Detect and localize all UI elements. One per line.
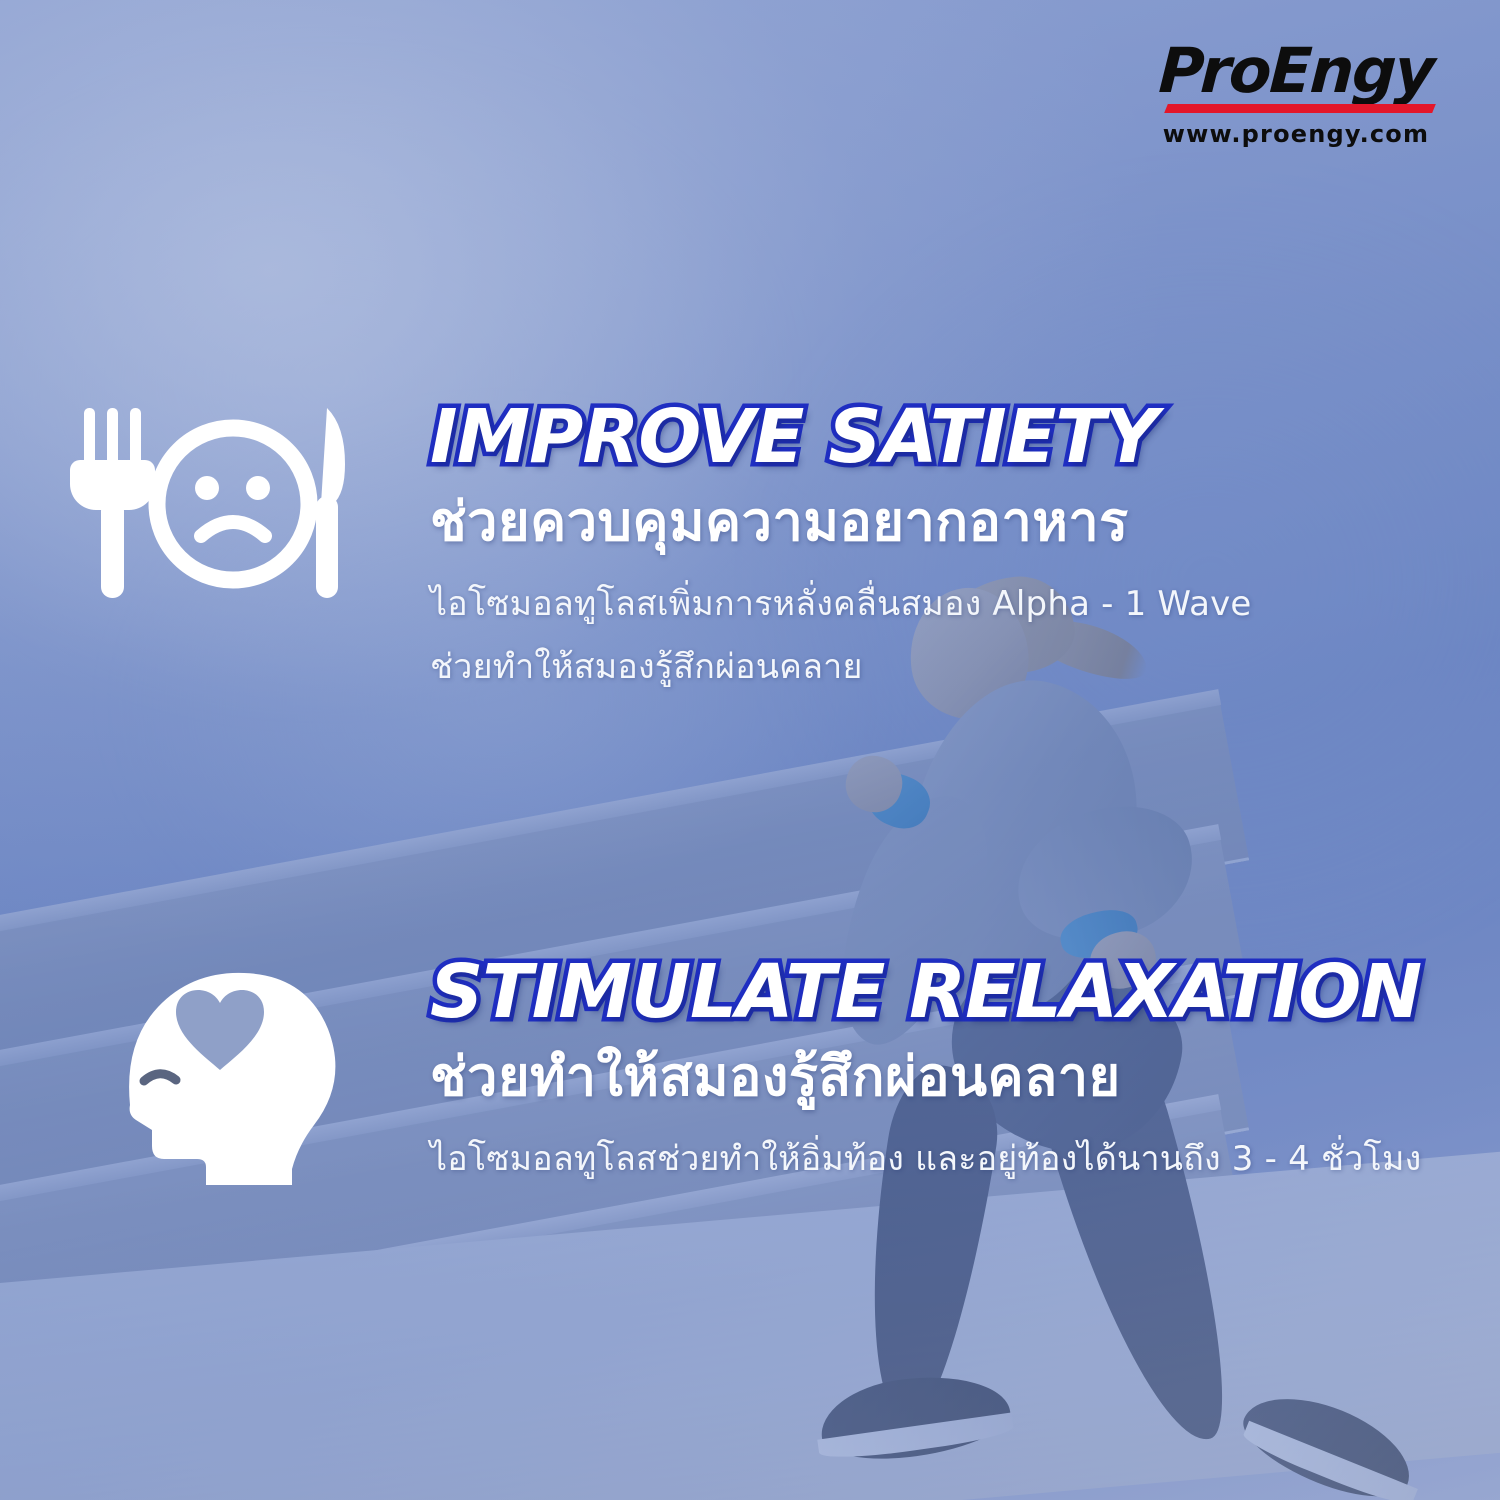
benefit-1-headline: IMPROVE SATIETY — [430, 400, 1460, 475]
benefit-2-headline: STIMULATE RELAXATION — [430, 955, 1460, 1030]
benefit-1-body-line-2: ช่วยทำให้สมองรู้สึกผ่อนคลาย — [430, 643, 1460, 692]
benefit-2-text: STIMULATE RELAXATION ช่วยทำให้สมองรู้สึก… — [430, 955, 1460, 1184]
benefit-1-body-line-1: ไอโซมอลทูโลสเพิ่มการหลั่งคลื่นสมอง Alpha… — [430, 580, 1460, 629]
sad-face-plate-icon — [157, 428, 309, 580]
plate-sad-face-icon — [70, 400, 390, 620]
benefit-2-subhead: ช่วยทำให้สมองรู้สึกผ่อนคลาย — [430, 1046, 1460, 1108]
benefit-1-subhead: ช่วยควบคุมความอยากอาหาร — [430, 491, 1460, 553]
brand-name: ProEngy — [1144, 40, 1447, 102]
brand-logo[interactable]: ProEngy www.proengy.com — [1146, 40, 1446, 148]
benefit-1-text: IMPROVE SATIETY ช่วยควบคุมความอยากอาหาร … — [430, 400, 1460, 692]
fork-icon — [70, 408, 155, 598]
light-bloom-overlay — [0, 0, 1500, 1500]
poster-canvas: ProEngy www.proengy.com — [0, 0, 1500, 1500]
head-heart-icon — [70, 955, 390, 1175]
benefit-2-body-line-1: ไอโซมอลทูโลสช่วยทำให้อิ่มท้อง และอยู่ท้อ… — [430, 1135, 1460, 1184]
logo-red-rule — [1164, 104, 1436, 113]
knife-icon — [316, 408, 345, 598]
brand-website: www.proengy.com — [1146, 120, 1446, 148]
background-photo — [0, 0, 1500, 1500]
